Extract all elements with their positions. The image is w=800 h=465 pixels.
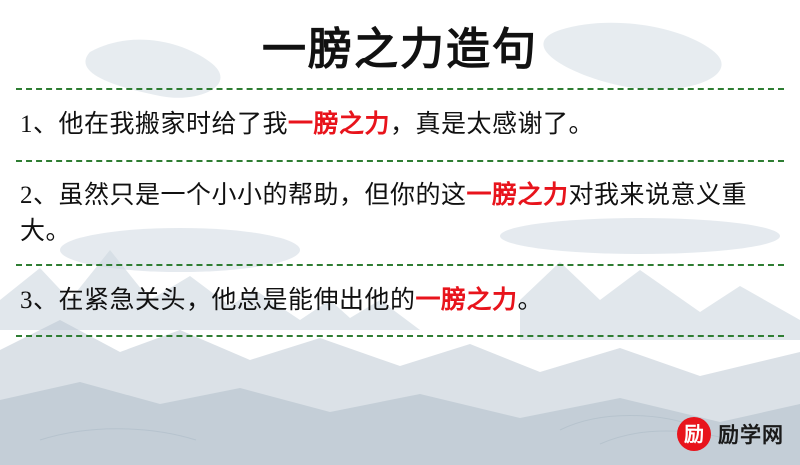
sentence-3-index: 3、	[20, 287, 59, 314]
sentence-3-before: 在紧急关头，他总是能伸出他的	[59, 287, 416, 314]
watermark-logo: 励 励学网	[677, 417, 784, 451]
divider-bottom	[16, 335, 784, 337]
sentence-1-index: 1、	[20, 111, 59, 138]
watermark-site-name: 励学网	[718, 419, 784, 449]
sentence-2-before: 虽然只是一个小小的帮助，但你的这	[59, 182, 467, 209]
page-title: 一膀之力造句	[14, 0, 786, 88]
worksheet-page: 一膀之力造句 1、他在我搬家时给了我一膀之力，真是太感谢了。 2、虽然只是一个小…	[0, 0, 800, 465]
sentence-3-highlight: 一膀之力	[416, 287, 518, 314]
sentence-item-1: 1、他在我搬家时给了我一膀之力，真是太感谢了。	[14, 90, 786, 159]
sentence-item-2: 2、虽然只是一个小小的帮助，但你的这一膀之力对我来说意义重大。	[14, 162, 786, 265]
sentence-2-index: 2、	[20, 182, 59, 209]
sentence-1-after: ，真是太感谢了。	[390, 111, 594, 138]
watermark-badge-icon: 励	[677, 417, 711, 451]
sentence-item-3: 3、在紧急关头，他总是能伸出他的一膀之力。	[14, 266, 786, 335]
sentence-3-after: 。	[518, 287, 544, 314]
sentence-1-before: 他在我搬家时给了我	[59, 111, 289, 138]
sentence-1-highlight: 一膀之力	[288, 111, 390, 138]
sentence-2-highlight: 一膀之力	[467, 182, 569, 209]
